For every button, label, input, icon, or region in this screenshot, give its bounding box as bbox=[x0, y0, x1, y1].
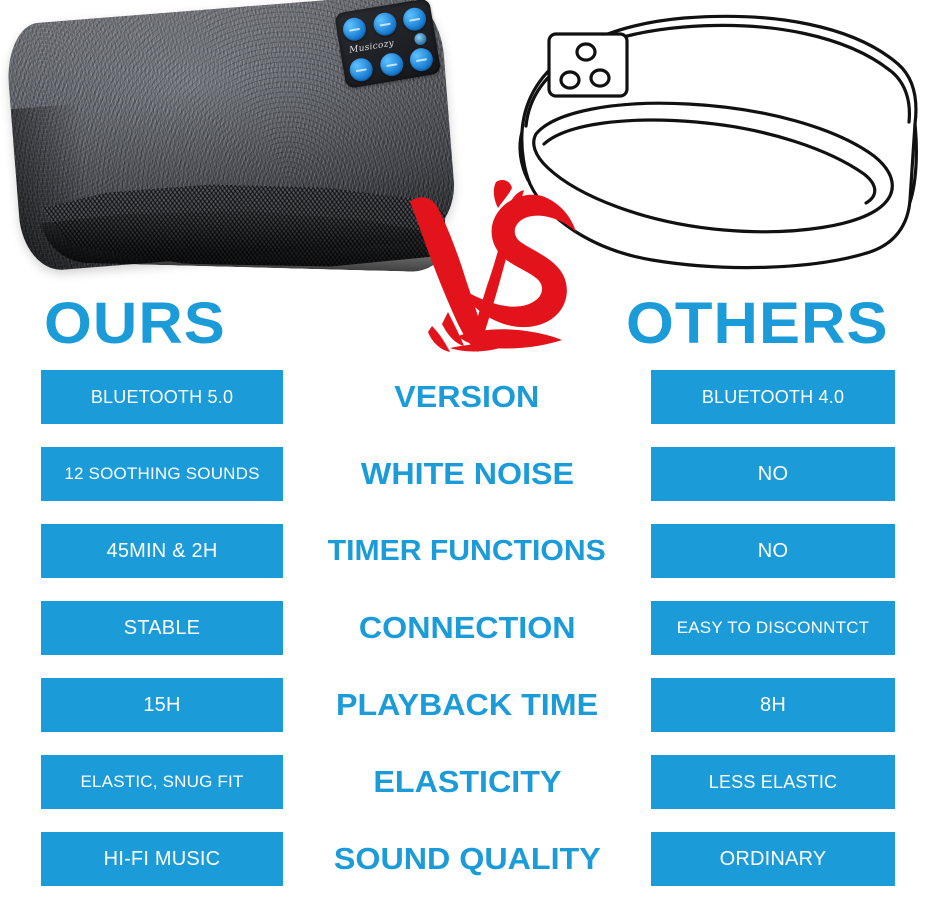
vs-brush-mark bbox=[392, 176, 588, 362]
others-value-cell: EASY TO DISCONNTCT bbox=[651, 601, 895, 655]
microphone-icon bbox=[414, 32, 428, 46]
others-value-cell-label: EASY TO DISCONNTCT bbox=[677, 618, 870, 638]
ours-value-cell-label: 15H bbox=[143, 694, 180, 717]
others-value-cell-label: BLUETOOTH 4.0 bbox=[702, 387, 844, 408]
feature-label-label: VERSION bbox=[394, 379, 539, 415]
table-row: 12 SOOTHING SOUNDSWHITE NOISENO bbox=[0, 447, 929, 503]
ours-value-cell: BLUETOOTH 5.0 bbox=[41, 370, 283, 424]
vs-icon bbox=[392, 176, 588, 362]
others-value-cell: NO bbox=[651, 524, 895, 578]
ours-value-cell-label: ELASTIC, SNUG FIT bbox=[80, 772, 243, 792]
ours-product-image: Musicozy bbox=[6, 2, 458, 294]
others-value-cell-label: LESS ELASTIC bbox=[709, 772, 837, 793]
feature-label-label: TIMER FUNCTIONS bbox=[328, 535, 606, 568]
ours-value-cell-label: 45MIN & 2H bbox=[107, 540, 218, 563]
table-row: HI-FI MUSICSOUND QUALITYORDINARY bbox=[0, 832, 929, 888]
ours-value-cell-label: 12 SOOTHING SOUNDS bbox=[64, 464, 259, 484]
table-row: BLUETOOTH 5.0VERSIONBLUETOOTH 4.0 bbox=[0, 370, 929, 426]
others-value-cell: ORDINARY bbox=[651, 832, 895, 886]
feature-label-label: SOUND QUALITY bbox=[334, 841, 601, 877]
hero-product-comparison: Musicozy bbox=[0, 0, 929, 300]
feature-label-label: PLAYBACK TIME bbox=[336, 687, 598, 723]
others-value-cell: BLUETOOTH 4.0 bbox=[651, 370, 895, 424]
others-value-cell-label: ORDINARY bbox=[720, 848, 827, 871]
next-track-button[interactable] bbox=[408, 46, 434, 72]
ours-value-cell-label: BLUETOOTH 5.0 bbox=[91, 387, 233, 408]
feature-label-label: CONNECTION bbox=[359, 610, 576, 646]
comparison-table: BLUETOOTH 5.0VERSIONBLUETOOTH 4.012 SOOT… bbox=[0, 370, 929, 898]
ours-value-cell: 45MIN & 2H bbox=[41, 524, 283, 578]
play-pause-button[interactable] bbox=[378, 51, 404, 77]
ours-value-cell-label: STABLE bbox=[124, 617, 200, 640]
others-value-cell-label: NO bbox=[758, 463, 788, 486]
feature-label: CONNECTION bbox=[283, 601, 651, 655]
page-title-ours: OURS bbox=[44, 296, 226, 352]
others-value-cell-label: NO bbox=[758, 540, 788, 563]
table-row: ELASTIC, SNUG FITELASTICITYLESS ELASTIC bbox=[0, 755, 929, 811]
ours-value-cell: ELASTIC, SNUG FIT bbox=[41, 755, 283, 809]
others-value-cell: 8H bbox=[651, 678, 895, 732]
ours-value-cell: STABLE bbox=[41, 601, 283, 655]
feature-label: TIMER FUNCTIONS bbox=[283, 524, 651, 578]
feature-label: SOUND QUALITY bbox=[283, 832, 651, 886]
others-value-cell: NO bbox=[651, 447, 895, 501]
page-title-others: OTHERS bbox=[626, 296, 889, 352]
feature-label-label: WHITE NOISE bbox=[360, 456, 573, 492]
bluetooth-control-panel[interactable]: Musicozy bbox=[334, 0, 441, 89]
volume-down-button[interactable] bbox=[348, 56, 374, 82]
feature-label: VERSION bbox=[283, 370, 651, 424]
feature-label: PLAYBACK TIME bbox=[283, 678, 651, 732]
table-row: 15HPLAYBACK TIME8H bbox=[0, 678, 929, 734]
ours-value-cell: 15H bbox=[41, 678, 283, 732]
feature-label: ELASTICITY bbox=[283, 755, 651, 809]
ours-value-cell: HI-FI MUSIC bbox=[41, 832, 283, 886]
ours-value-cell: 12 SOOTHING SOUNDS bbox=[41, 447, 283, 501]
table-row: STABLECONNECTIONEASY TO DISCONNTCT bbox=[0, 601, 929, 657]
others-value-cell: LESS ELASTIC bbox=[651, 755, 895, 809]
table-row: 45MIN & 2HTIMER FUNCTIONSNO bbox=[0, 524, 929, 580]
ours-value-cell-label: HI-FI MUSIC bbox=[104, 848, 221, 871]
others-value-cell-label: 8H bbox=[760, 694, 786, 717]
feature-label-label: ELASTICITY bbox=[373, 764, 561, 800]
feature-label: WHITE NOISE bbox=[283, 447, 651, 501]
